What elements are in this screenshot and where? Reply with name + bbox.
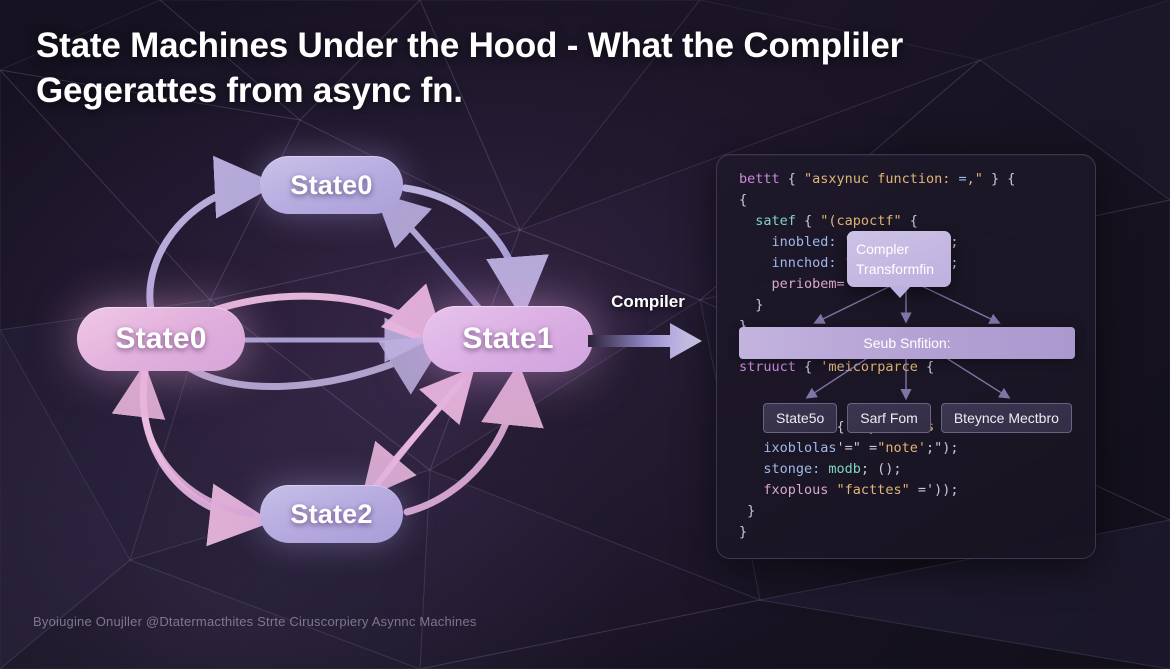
state-machine-banner: Seub Snfition: xyxy=(739,327,1075,359)
compiler-arrow-icon xyxy=(588,318,708,364)
compiler-transition: Compiler xyxy=(588,292,708,364)
state-node-label: State0 xyxy=(115,322,206,356)
struct-chip-0[interactable]: State5o xyxy=(763,403,837,433)
banner-label: Seub Snfition: xyxy=(863,335,950,351)
compiler-transform-tooltip: Compler Transformfin xyxy=(847,231,951,287)
state-node-state1[interactable]: State1 xyxy=(423,306,593,372)
footer-caption: Byoiugine Onujller @Dtatermacthites Strt… xyxy=(33,614,477,629)
state-node-label: State2 xyxy=(290,499,372,530)
generated-struct-chips: State5oSarf FomBteynce Mectbro xyxy=(763,403,1083,433)
tooltip-line-1: Compler xyxy=(856,239,942,259)
generated-code-panel: bettt { "asxynuc function: =," } { { sat… xyxy=(716,154,1096,559)
tooltip-tail-icon xyxy=(889,286,911,298)
page-title: State Machines Under the Hood - What the… xyxy=(36,24,1036,114)
state-machine-diagram: State0 State0 State1 State2 xyxy=(55,140,655,580)
state-node-state0-left[interactable]: State0 xyxy=(77,307,245,371)
state-node-state0-top[interactable]: State0 xyxy=(260,156,403,214)
slide-canvas: State Machines Under the Hood - What the… xyxy=(0,0,1170,669)
struct-chip-1[interactable]: Sarf Fom xyxy=(847,403,931,433)
state-node-label: State1 xyxy=(462,322,553,356)
compiler-arrow-label: Compiler xyxy=(588,292,708,312)
state-node-state2[interactable]: State2 xyxy=(260,485,403,543)
tooltip-line-2: Transformfin xyxy=(856,259,942,279)
state-node-label: State0 xyxy=(290,170,372,201)
struct-chip-2[interactable]: Bteynce Mectbro xyxy=(941,403,1072,433)
